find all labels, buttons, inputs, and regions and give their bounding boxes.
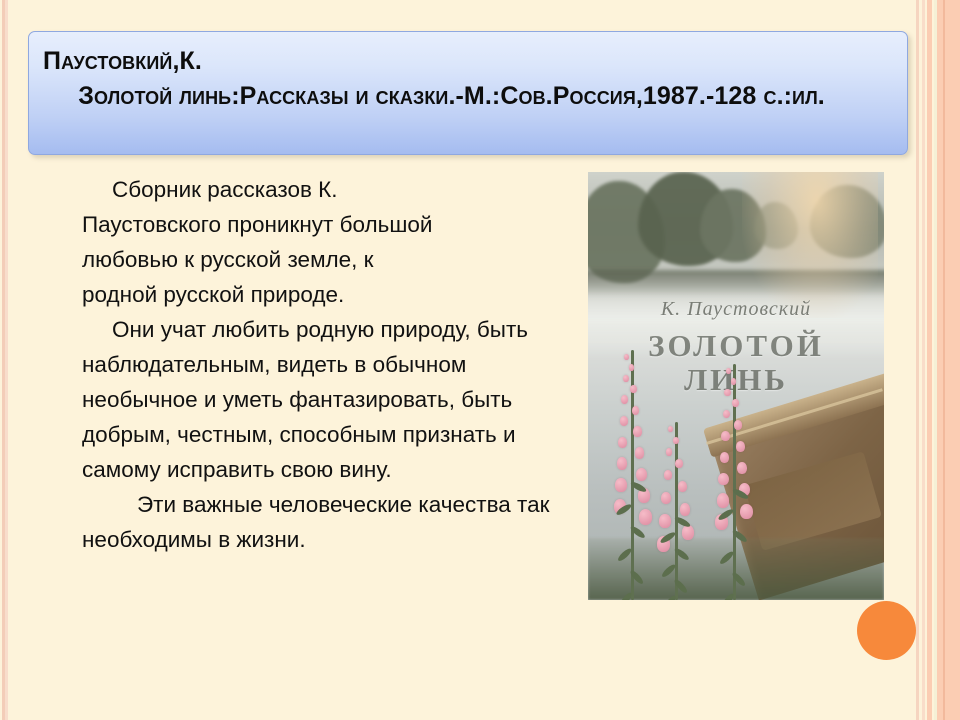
cover-flower-bud (680, 503, 691, 516)
cover-flower-bud (617, 457, 627, 469)
cover-flower-bud (740, 504, 753, 519)
border-stripe-right-1 (916, 0, 919, 720)
cover-flower-bud (615, 478, 627, 492)
cover-flower-bud (717, 493, 729, 507)
border-stripe-right-5 (937, 0, 960, 720)
paragraph-2: Они учат любить родную природу, быть наб… (82, 312, 552, 487)
cover-flower (718, 364, 752, 600)
cover-flower-bud (736, 441, 745, 452)
cover-flower-stem (675, 422, 678, 600)
paragraph-3: Эти важные человеческие качества так нео… (82, 487, 552, 557)
cover-flower-bud (732, 399, 739, 407)
cover-flower-bud (620, 416, 628, 426)
cover-flower-bud (720, 452, 730, 463)
cover-flower-bud (618, 437, 627, 448)
cover-flower-bud (726, 368, 731, 374)
cover-flower-bud (721, 431, 729, 441)
cover-flower-bud (629, 364, 635, 371)
cover-flower-bud (666, 448, 673, 456)
slide: Паустовкий,К. Золотой линь:Рассказы и ск… (0, 0, 960, 720)
cover-flower (660, 422, 694, 600)
border-stripe-right-2 (922, 0, 925, 720)
border-stripe-right-6 (943, 0, 945, 720)
cover-flower-bud (731, 378, 737, 385)
cover-flower-bud (718, 473, 729, 486)
cover-flower-bud (668, 426, 673, 432)
border-stripe-right-4 (934, 0, 937, 720)
cover-flower-bud (673, 437, 679, 444)
cover-flower-bud (664, 470, 672, 480)
bibliographic-title: Паустовкий,К. Золотой линь:Рассказы и ск… (43, 44, 893, 114)
border-stripe-left-inner (5, 0, 8, 720)
cover-flower-bud (624, 354, 629, 360)
cover-flower-bud (632, 406, 640, 415)
cover-flower-bud (630, 385, 637, 393)
cover-flower-bud (661, 492, 671, 504)
cover-flower-bud (635, 447, 645, 459)
cover-flower-bud (678, 481, 687, 492)
cover-flower-bud (636, 468, 647, 481)
title-box: Паустовкий,К. Золотой линь:Рассказы и ск… (28, 31, 908, 155)
cover-flower (616, 350, 650, 600)
border-stripe-left-outer (2, 0, 5, 720)
cover-flower-bud (621, 395, 628, 403)
paragraph-1: Сборник рассказов К. Паустовского проник… (82, 172, 442, 312)
cover-flower-bud (724, 389, 730, 396)
cover-flower-bud (659, 514, 671, 528)
body-text-column: Сборник рассказов К. Паустовского проник… (82, 172, 552, 557)
cover-flower-bud (675, 459, 682, 468)
cover-flower-bud (682, 525, 694, 540)
cover-flower-bud (633, 426, 642, 436)
cover-flower-bud (639, 509, 652, 525)
cover-flower-bud (723, 410, 730, 419)
cover-flower-bud (623, 375, 629, 382)
cover-flower-bud (734, 420, 742, 429)
cover-flower-bud (737, 462, 747, 474)
book-cover-image: К. Паустовский ЗОЛОТОЙ ЛИНЬ (588, 172, 884, 600)
border-stripe-right-3 (927, 0, 932, 720)
cover-sun-glow (742, 172, 878, 318)
orange-circle-decoration (857, 601, 916, 660)
